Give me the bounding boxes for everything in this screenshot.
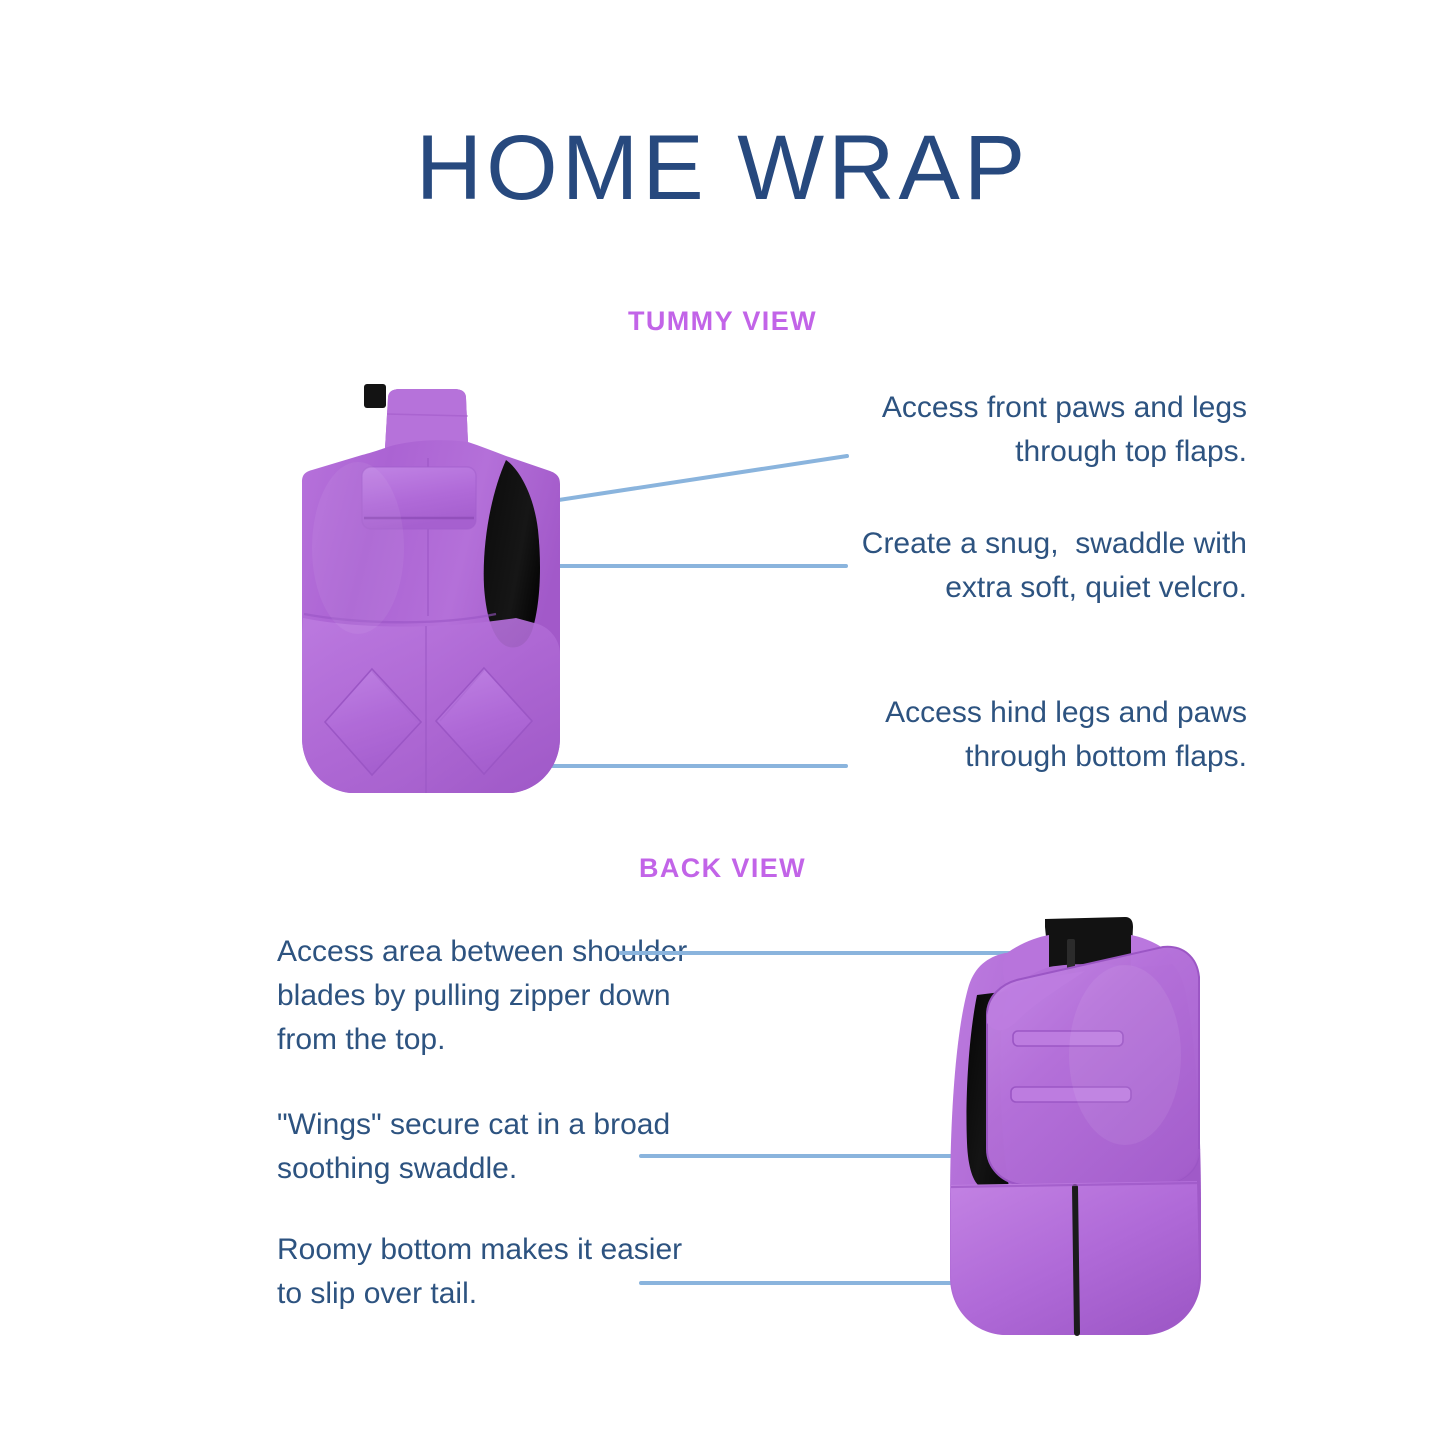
bottom-zipper-line: [1075, 1187, 1077, 1333]
annotation-zipper-access: Access area between shoulder blades by p…: [277, 930, 697, 1062]
infographic-page: HOME WRAP TUMMY VIEW BACK VIEW Access fr…: [0, 0, 1445, 1445]
page-title: HOME WRAP: [0, 122, 1445, 214]
tummy-view-illustration: [288, 378, 580, 802]
fabric-highlight: [312, 462, 404, 634]
section-header-back-view: BACK VIEW: [0, 853, 1445, 884]
annotation-top-flaps: Access front paws and legs through top f…: [787, 386, 1247, 474]
collar-black-tab: [364, 384, 386, 408]
collar-tummy: [385, 389, 468, 448]
annotation-bottom-flaps: Access hind legs and paws through bottom…: [787, 691, 1247, 779]
back-view-illustration: [925, 905, 1225, 1345]
fabric-highlight-back: [1069, 965, 1181, 1145]
section-header-tummy-view: TUMMY VIEW: [0, 306, 1445, 337]
roomy-bottom: [951, 1181, 1199, 1335]
product-photo-tummy-view: [288, 378, 580, 802]
annotation-velcro: Create a snug, swaddle with extra soft, …: [787, 522, 1247, 610]
product-photo-back-view: [925, 905, 1225, 1345]
annotation-wings: "Wings" secure cat in a broad soothing s…: [277, 1103, 697, 1191]
annotation-roomy-bottom: Roomy bottom makes it easier to slip ove…: [277, 1228, 697, 1316]
